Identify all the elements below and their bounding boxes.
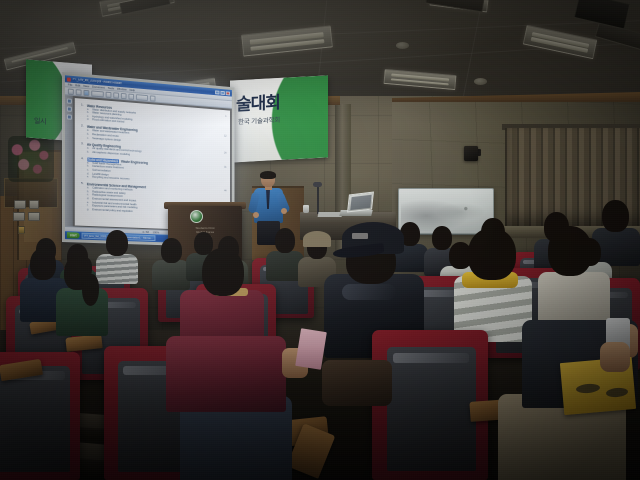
search-icon[interactable] (150, 95, 156, 101)
person-head (468, 228, 516, 280)
toc-item-number: g. (87, 208, 90, 212)
menu-edit[interactable]: Edit (75, 84, 80, 87)
zoom-level-box[interactable] (91, 90, 103, 97)
ceiling-light-fixture (99, 0, 175, 17)
smoke-detector-icon (474, 78, 487, 85)
toc-item-number: e. (87, 176, 90, 180)
presenter-hand-left (253, 212, 259, 218)
light-switch-plate[interactable] (29, 200, 39, 209)
person-head (161, 238, 182, 263)
toc-item-text: Recycling and resource recovery (92, 176, 129, 182)
seat-pad (387, 347, 476, 472)
black-baseball-cap (342, 222, 404, 254)
toc-page-number: 24 (224, 152, 227, 155)
ceiling-light-fixture (383, 69, 456, 90)
toc-number: 3. (81, 143, 85, 147)
presenter-hair (260, 171, 276, 179)
person-head (106, 230, 128, 256)
power-outlet-plate[interactable] (13, 212, 25, 221)
banner-title: 술대회 (236, 88, 280, 115)
audience-member-near-left (162, 300, 302, 480)
audience-member-right-booklet (498, 286, 640, 480)
microphone-stand (317, 186, 319, 214)
wall-speaker (464, 146, 478, 161)
audience-member (56, 256, 108, 332)
zoom-in-icon[interactable] (113, 92, 119, 98)
toc-number: 2. (81, 125, 85, 129)
presenter-hand-right (281, 208, 287, 214)
ceiling-projector (574, 0, 631, 30)
bag-on-seat (322, 360, 392, 406)
toc-number: 4. (81, 157, 85, 161)
university-emblem-icon (190, 210, 203, 223)
menu-tools[interactable]: Tools (108, 86, 114, 89)
smoke-detector-icon (396, 42, 409, 49)
toc-item-number: b. (87, 151, 90, 155)
menu-help[interactable]: Help (129, 88, 135, 91)
minimize-icon[interactable] (215, 90, 219, 94)
attachments-icon[interactable] (66, 114, 71, 119)
ceiling-air-vent (425, 0, 485, 12)
power-outlet-plate[interactable] (28, 212, 40, 221)
audience-member-phone (600, 318, 640, 378)
jacket-sheen (342, 284, 396, 300)
toc-item-text: Atmospheric dispersion modeling (92, 151, 130, 157)
banner-subtitle: 일시 (34, 116, 46, 127)
toc-number: 5. (81, 182, 85, 186)
light-switch-plate[interactable] (14, 200, 26, 209)
next-page-icon[interactable] (128, 93, 134, 99)
print-icon[interactable] (76, 89, 82, 95)
previous-page-icon[interactable] (121, 92, 127, 98)
toc-page-number: 44 (224, 190, 227, 193)
conference-banner-right: 술대회 한국 기술과학회 (230, 75, 328, 162)
person-hand (600, 342, 630, 372)
lecture-hall-photo: 2 일시 술대회 한국 기술과학회 PT_Env_list_2009.pdf -… (0, 0, 640, 480)
person-head (202, 248, 244, 296)
toc-item-number: d. (87, 118, 90, 122)
ceiling-air-vent (119, 0, 170, 15)
flower-arrangement (8, 136, 54, 182)
toc-item-text: Sewerage system design (92, 137, 121, 143)
paper-cup (303, 205, 309, 213)
toc-item-number: c. (87, 136, 90, 140)
person-head (275, 228, 295, 253)
person-head (30, 248, 56, 280)
toc-item-text: Flood estimation and control (92, 119, 124, 125)
wall-jack-plate[interactable] (18, 226, 25, 234)
person-shirt (166, 336, 286, 412)
toc-page-number: 31 (224, 166, 227, 169)
open-file-icon[interactable] (68, 88, 74, 94)
search-box[interactable] (136, 94, 148, 101)
toc-page-number: 12 (224, 135, 227, 138)
toc-item-text: Environmental policy and regulation (92, 208, 132, 213)
window-controls[interactable] (215, 90, 230, 95)
start-button[interactable]: start (67, 232, 80, 239)
person-head (548, 226, 592, 276)
seat-pad (0, 366, 70, 472)
maximize-icon[interactable] (220, 90, 224, 94)
close-icon[interactable] (226, 91, 230, 95)
pages-icon[interactable] (66, 106, 71, 111)
ceiling-air-vent (595, 21, 640, 50)
toc-page-number: 1 (225, 114, 226, 117)
ceiling-light-fixture (241, 25, 333, 56)
ceiling-light-fixture (523, 25, 598, 60)
menu-file[interactable]: File (68, 83, 73, 86)
pdf-navigation-rail[interactable] (65, 95, 73, 226)
toc-number: 1. (81, 103, 85, 107)
zoom-out-icon[interactable] (106, 91, 112, 97)
save-icon[interactable] (84, 89, 90, 95)
seat-highlight (393, 353, 470, 364)
microphone-icon (313, 182, 322, 187)
person-ponytail (82, 274, 99, 306)
menu-view[interactable]: View (83, 84, 89, 87)
laptop-screen (347, 191, 374, 212)
cap-logo (352, 233, 368, 239)
menu-document[interactable]: Document (92, 85, 105, 89)
bookmarks-icon[interactable] (66, 98, 71, 103)
ceiling-light-fixture (429, 0, 488, 12)
adobe-reader-icon (67, 77, 71, 81)
menu-window[interactable]: Window (117, 87, 127, 91)
